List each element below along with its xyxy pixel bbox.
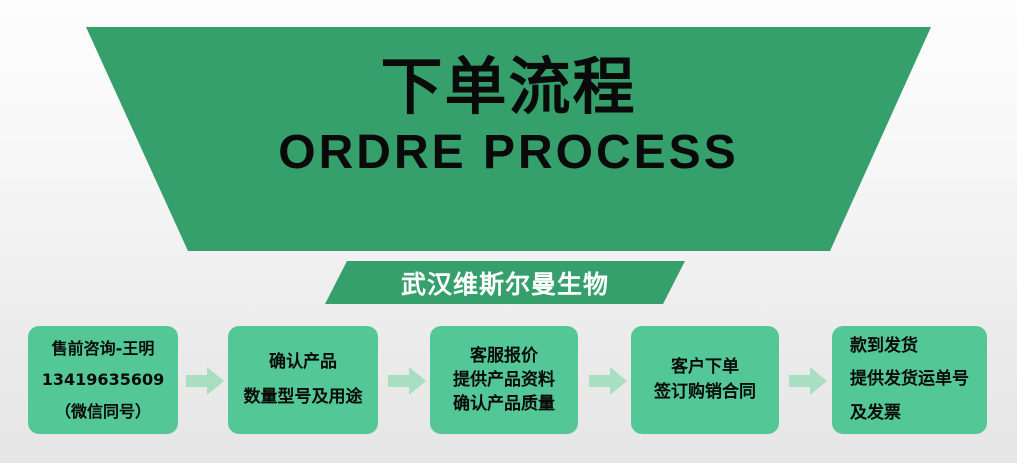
- arrow-right-icon-3: [589, 366, 627, 396]
- process-step-1[interactable]: 售前咨询-王明 13419635609 （微信同号）: [28, 326, 178, 434]
- step-5-line-1: 款到发货: [850, 330, 918, 363]
- step-4-line-1: 客户下单: [671, 355, 739, 380]
- process-flow-row: 售前咨询-王明 13419635609 （微信同号） 确认产品 数量型号及用途 …: [0, 326, 1017, 436]
- step-5-line-3: 及发票: [850, 397, 901, 430]
- process-step-3[interactable]: 客服报价 提供产品资料 确认产品质量: [430, 326, 578, 434]
- step-4-line-2: 签订购销合同: [654, 380, 756, 405]
- step-2-line-1: 确认产品: [269, 345, 337, 380]
- step-1-line-1: 售前咨询-王明: [52, 333, 155, 364]
- step-1-line-2: 13419635609: [42, 364, 164, 395]
- step-2-line-2: 数量型号及用途: [244, 380, 363, 415]
- step-1-line-3: （微信同号）: [55, 396, 151, 427]
- company-banner-shape: [325, 261, 685, 304]
- process-step-5[interactable]: 款到发货 提供发货运单号 及发票: [832, 326, 987, 434]
- arrow-right-icon-2: [388, 366, 426, 396]
- step-3-line-2: 提供产品资料: [453, 368, 555, 392]
- infographic-canvas: 下单流程 ORDRE PROCESS 武汉维斯尔曼生物 售前咨询-王明 1341…: [0, 0, 1017, 463]
- process-step-4[interactable]: 客户下单 签订购销合同: [631, 326, 779, 434]
- step-3-line-1: 客服报价: [470, 344, 538, 368]
- step-5-line-2: 提供发货运单号: [850, 363, 969, 396]
- process-step-2[interactable]: 确认产品 数量型号及用途: [228, 326, 378, 434]
- hero-trapezoid-shape: [0, 27, 1017, 251]
- step-3-line-3: 确认产品质量: [453, 392, 555, 416]
- arrow-right-icon-4: [789, 366, 827, 396]
- arrow-right-icon-1: [186, 366, 224, 396]
